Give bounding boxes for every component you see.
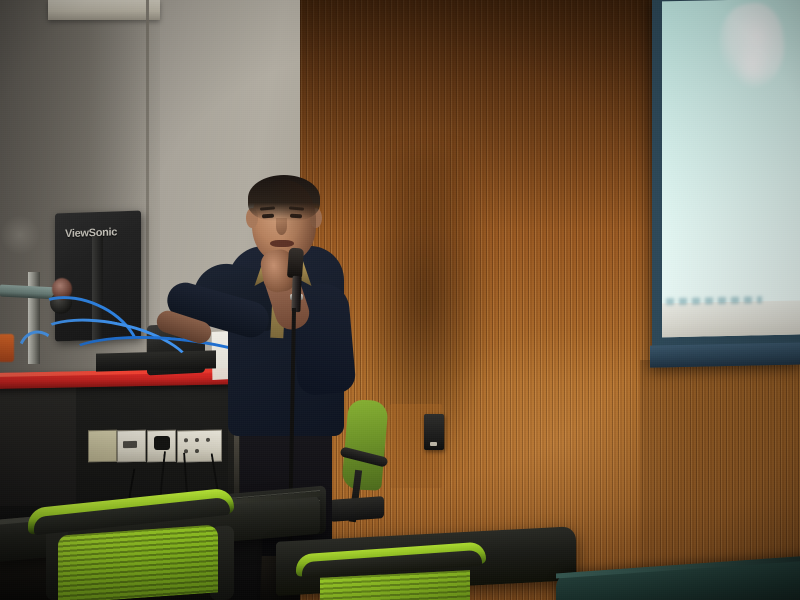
- photo-scene: ViewSonic: [0, 0, 800, 600]
- plate-2-connector-icon: [123, 441, 137, 448]
- chair-foreground-left[interactable]: [28, 498, 234, 600]
- microphone-body: [291, 276, 301, 312]
- screen-bottom-bar: [650, 342, 800, 367]
- wall-smudge: [0, 215, 40, 255]
- ceiling-soffit: [48, 0, 160, 20]
- projection-screen: [652, 0, 800, 368]
- wall-device-indicator-icon: [430, 442, 437, 446]
- desk-orange-object: [0, 334, 14, 362]
- chair-foreground-center[interactable]: [296, 548, 486, 600]
- podium-left-cabinet: [0, 386, 76, 506]
- slide-footer-band: [662, 300, 800, 337]
- podium-wall-plate-2[interactable]: [117, 430, 146, 463]
- projection-screen-surface: [662, 0, 800, 337]
- chair-left-mesh-back: [58, 524, 218, 600]
- podium-plugged-connector: [154, 436, 170, 450]
- microphone-head[interactable]: [287, 248, 304, 279]
- podium-wall-plate-1[interactable]: [88, 430, 117, 463]
